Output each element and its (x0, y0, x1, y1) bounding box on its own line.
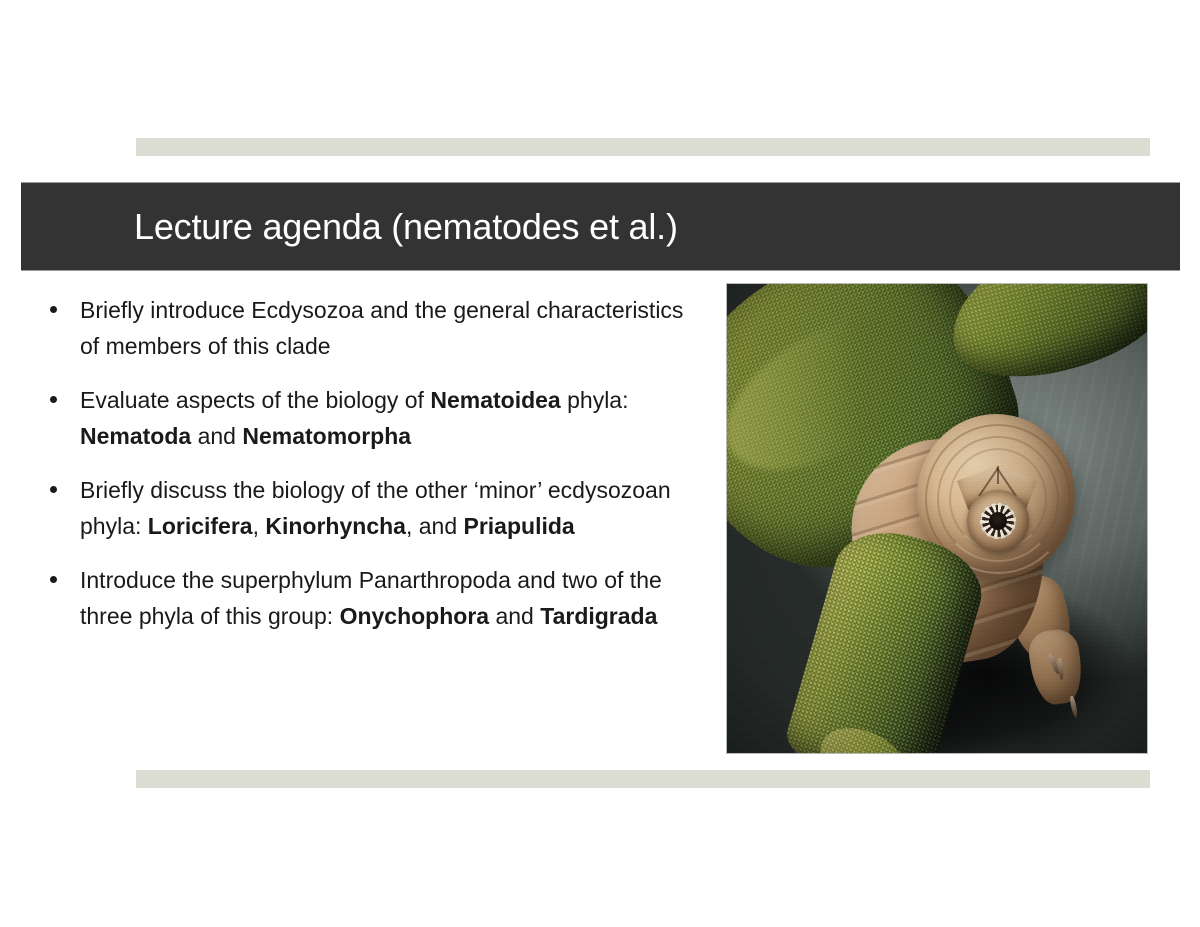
bullet-list: Briefly introduce Ecdysozoa and the gene… (44, 292, 704, 634)
title-band: Lecture agenda (nematodes et al.) (21, 183, 1180, 270)
mouth-placoid-ring (980, 503, 1016, 539)
accent-bar-bottom (136, 770, 1150, 788)
accent-bar-top (136, 138, 1150, 156)
bullet-text: Evaluate aspects of the biology of Nemat… (80, 387, 628, 449)
snout-crease (997, 466, 999, 484)
bullet-dot-icon (50, 306, 57, 313)
bullet-text: Briefly introduce Ecdysozoa and the gene… (80, 297, 683, 359)
mouth-opening (989, 512, 1007, 530)
bullet-text: Introduce the superphylum Panarthropoda … (80, 567, 662, 629)
list-item: Evaluate aspects of the biology of Nemat… (44, 382, 704, 454)
bullet-dot-icon (50, 486, 57, 493)
bullet-dot-icon (50, 576, 57, 583)
moss-branch-tip (809, 715, 918, 753)
page-title: Lecture agenda (nematodes et al.) (134, 183, 678, 270)
slide-content: Briefly introduce Ecdysozoa and the gene… (0, 284, 1200, 764)
bullet-text: Briefly discuss the biology of the other… (80, 477, 671, 539)
list-item: Briefly discuss the biology of the other… (44, 472, 704, 544)
list-item: Briefly introduce Ecdysozoa and the gene… (44, 292, 704, 364)
tardigrade-mouth-tube (967, 490, 1029, 552)
slide-canvas: Lecture agenda (nematodes et al.) Briefl… (0, 0, 1200, 927)
list-item: Introduce the superphylum Panarthropoda … (44, 562, 704, 634)
bullet-dot-icon (50, 396, 57, 403)
tardigrade-sem-micrograph (727, 284, 1147, 753)
